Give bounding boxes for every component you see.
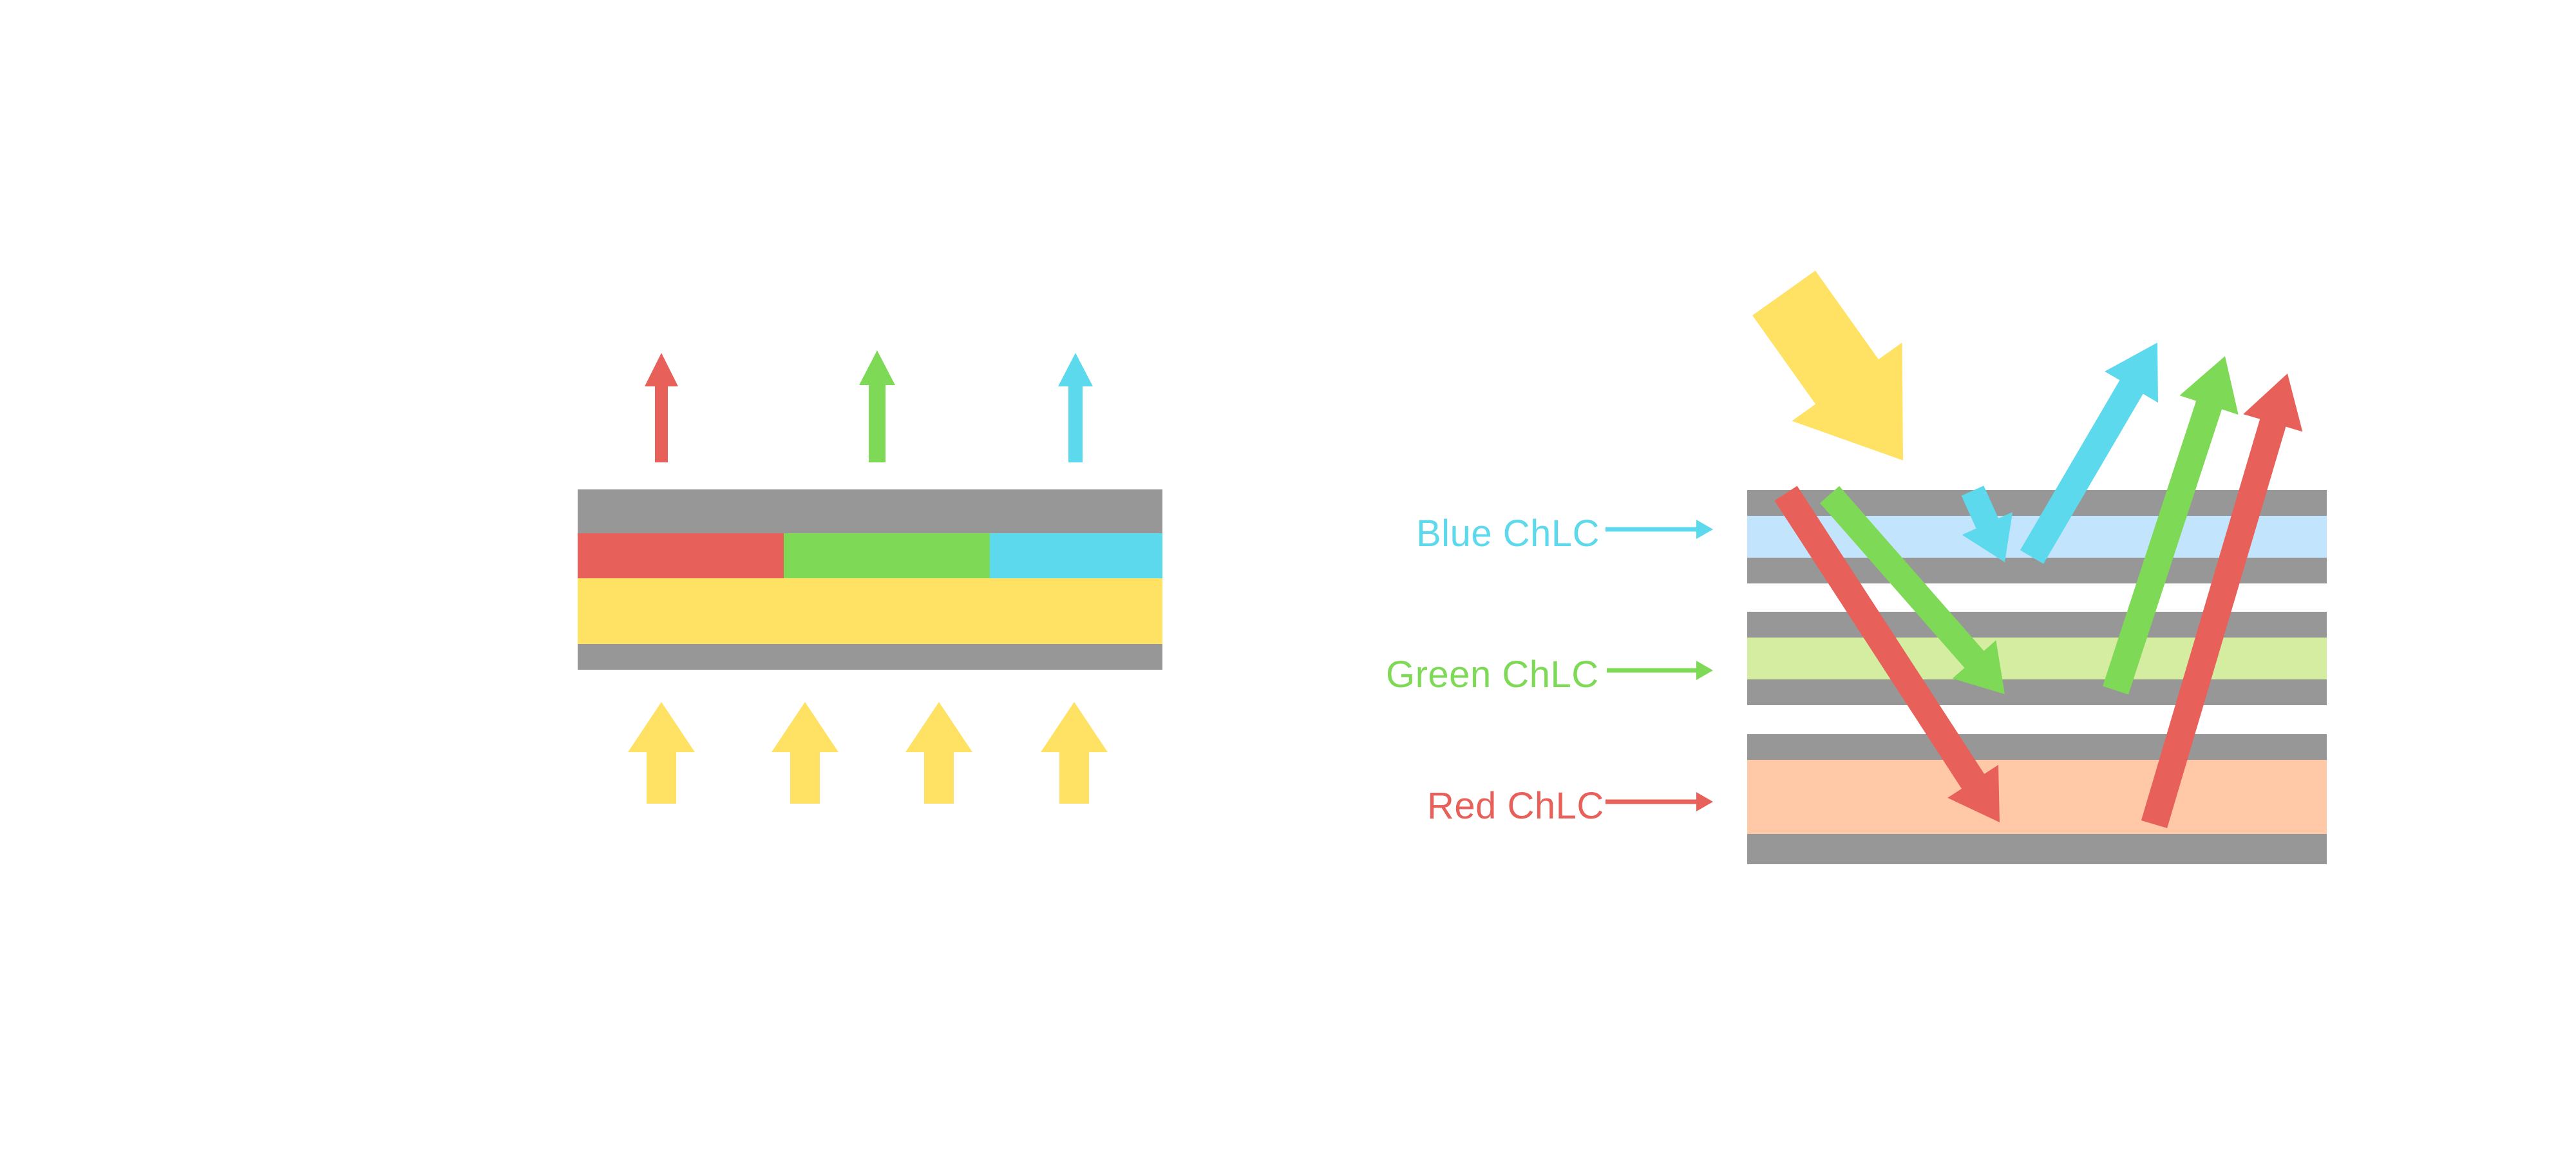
top-electrode [578, 489, 1162, 533]
label-green-chlc: Green ChLC [1386, 653, 1599, 696]
red-chlc-layer [1747, 760, 2327, 834]
backlight-arrow-3 [905, 702, 972, 804]
green-chlc-layer [1747, 638, 2327, 679]
left-emitted-arrows [645, 350, 1093, 462]
diagram-vector-art [0, 0, 2576, 1154]
backlight-arrow-2 [772, 702, 838, 804]
label-green-chlc-leader-head [1696, 661, 1713, 680]
emitted-red-arrow [645, 353, 678, 462]
figure-canvas: Blue ChLC Green ChLC Red ChLC [0, 0, 2576, 1154]
label-red-chlc: Red ChLC [1427, 784, 1604, 828]
label-red-chlc-leader [1605, 792, 1713, 811]
label-blue-chlc: Blue ChLC [1416, 512, 1600, 555]
incident-light-arrow-group [1752, 270, 1903, 460]
label-blue-chlc-leader-head [1696, 520, 1713, 539]
gap-2 [1747, 705, 2327, 734]
backlight-arrow-1 [628, 702, 695, 804]
blue-subpixel [990, 533, 1162, 578]
green-subpixel [784, 533, 990, 578]
green-cell-bottom-electrode [1747, 679, 2327, 705]
incident-white-light-arrow [1752, 270, 1903, 460]
label-blue-chlc-leader [1605, 520, 1713, 539]
backlight-layer [578, 578, 1162, 644]
left-backlight-arrows [628, 702, 1108, 804]
backlight-arrow-4 [1041, 702, 1108, 804]
emitted-green-arrow [859, 350, 895, 462]
left-stack-bands [578, 489, 1162, 670]
red-cell-top-electrode [1747, 734, 2327, 760]
label-red-chlc-leader-head [1696, 792, 1713, 811]
label-green-chlc-leader [1607, 661, 1713, 680]
red-cell-bottom-electrode [1747, 834, 2327, 864]
right-label-leader-arrows [1605, 520, 1713, 811]
red-subpixel [578, 533, 784, 578]
bottom-electrode [578, 644, 1162, 670]
green-cell-top-electrode [1747, 612, 2327, 638]
emitted-blue-arrow [1058, 353, 1093, 462]
